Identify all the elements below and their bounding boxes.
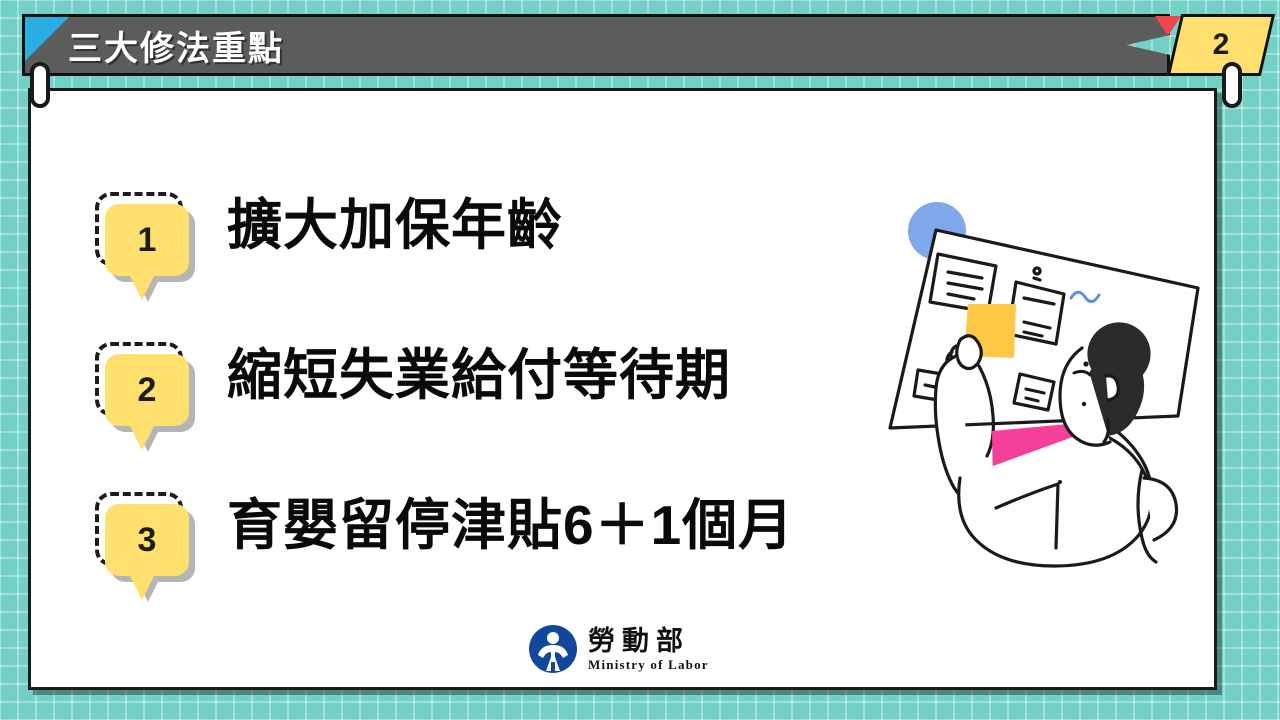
logo-text: 勞動部 Ministry of Labor — [588, 628, 709, 671]
badge-number: 3 — [105, 504, 189, 576]
slide-root: 三大修法重點 2 1 擴大加保年齡 2 縮短失業給付等待期 — [0, 0, 1280, 720]
logo-name-en: Ministry of Labor — [588, 658, 709, 671]
list-item: 3 育嬰留停津貼6＋1個月 — [95, 486, 915, 636]
number-badge: 2 — [95, 342, 205, 460]
ministry-logo: 勞動部 Ministry of Labor — [527, 618, 717, 680]
key-points-list: 1 擴大加保年齡 2 縮短失業給付等待期 3 育嬰留停津貼6＋1個月 — [95, 186, 915, 636]
ministry-emblem-icon — [527, 623, 579, 675]
list-item-label: 育嬰留停津貼6＋1個月 — [227, 498, 794, 553]
page-title: 三大修法重點 — [68, 14, 284, 76]
illustration-woman-pinning-note — [868, 188, 1218, 588]
list-item: 2 縮短失業給付等待期 — [95, 336, 915, 486]
logo-name-cn: 勞動部 — [588, 628, 709, 655]
pin-clip-icon-right — [1222, 62, 1242, 108]
number-badge: 1 — [95, 192, 205, 310]
list-item: 1 擴大加保年齡 — [95, 186, 915, 336]
number-badge: 3 — [95, 492, 205, 610]
badge-number: 1 — [105, 204, 189, 276]
badge-number: 2 — [105, 354, 189, 426]
pin-clip-icon-left — [30, 62, 50, 108]
triangle-corner-icon — [25, 17, 69, 61]
list-item-label: 擴大加保年齡 — [227, 198, 563, 253]
list-item-label: 縮短失業給付等待期 — [227, 348, 731, 403]
page-number: 2 — [1174, 14, 1268, 76]
